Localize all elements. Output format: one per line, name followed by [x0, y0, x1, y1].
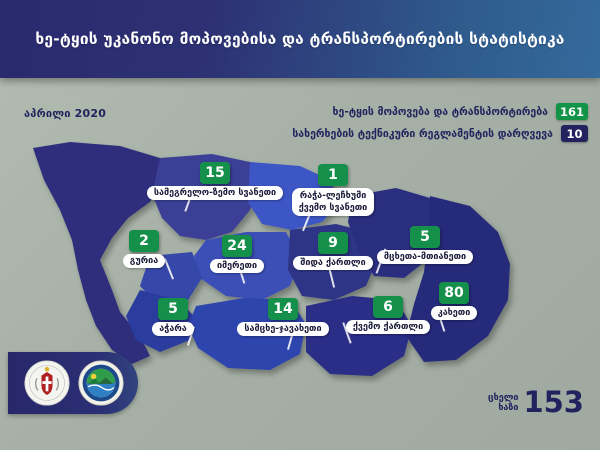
footer-logo-bar	[8, 352, 138, 414]
marker-value: 6	[373, 296, 403, 318]
marker-label: რაჭა-ლეჩხუმი ქვემო სვანეთი	[292, 188, 375, 216]
marker-label: იმერეთი	[210, 259, 264, 273]
legend-value-logging: 161	[556, 103, 588, 120]
marker-value: 14	[268, 298, 298, 320]
hotline: ცხელი ხაზი 153	[488, 388, 584, 417]
marker-value: 9	[318, 232, 348, 254]
marker-label: სამცხე-ჯავახეთი	[237, 322, 328, 336]
environment-agency-seal-icon	[78, 360, 124, 406]
legend-row-logging: ხე-ტყის მოპოვება და ტრანსპორტირება 161	[292, 103, 588, 120]
marker-label: მცხეთა-მთიანეთი	[377, 250, 473, 264]
marker-label: ქვემო ქართლი	[346, 320, 430, 334]
marker-label: გურია	[123, 254, 165, 268]
marker-value: 5	[410, 226, 440, 248]
marker-value: 2	[129, 230, 159, 252]
hotline-word-1: ცხელი	[488, 393, 518, 403]
map-marker-kakheti[interactable]: 80 კახეთი	[418, 282, 490, 320]
hotline-number: 153	[523, 388, 584, 417]
marker-label: სამეგრელო-ზემო სვანეთი	[147, 186, 283, 200]
marker-label: აჭარა	[152, 322, 193, 336]
map-marker-samegrelo-zemo-svaneti[interactable]: 15 სამეგრელო-ზემო სვანეთი	[130, 162, 300, 200]
header-banner: ხე-ტყის უკანონო მოპოვებისა და ტრანსპორტი…	[0, 0, 600, 78]
marker-label-line2: ქვემო სვანეთი	[299, 202, 368, 214]
legend-label-sawmill: სახერხების ტექნიკური რეგლამენტის დარღვევ…	[292, 128, 553, 140]
page-title: ხე-ტყის უკანონო მოპოვებისა და ტრანსპორტი…	[35, 30, 564, 48]
marker-value: 80	[439, 282, 469, 304]
marker-value: 5	[158, 298, 188, 320]
marker-value: 24	[222, 235, 252, 257]
marker-label-line1: რაჭა-ლეჩხუმი	[299, 190, 368, 202]
map-marker-samtskhe-javakheti[interactable]: 14 სამცხე-ჯავახეთი	[228, 298, 338, 336]
map-marker-guria[interactable]: 2 გურია	[108, 230, 180, 268]
georgia-coat-of-arms-icon	[24, 360, 70, 406]
marker-label: კახეთი	[431, 306, 478, 320]
legend-label-logging: ხე-ტყის მოპოვება და ტრანსპორტირება	[333, 106, 548, 118]
marker-value: 1	[318, 164, 348, 186]
hotline-label: ცხელი ხაზი	[488, 393, 518, 413]
map-marker-adjara[interactable]: 5 აჭარა	[138, 298, 208, 336]
infographic-poster: ხე-ტყის უკანონო მოპოვებისა და ტრანსპორტი…	[0, 0, 600, 450]
date-label: აპრილი 2020	[24, 107, 106, 120]
hotline-word-2: ხაზი	[488, 403, 518, 413]
map-marker-imereti[interactable]: 24 იმერეთი	[198, 235, 276, 273]
map-marker-mtskheta-mtianeti[interactable]: 5 მცხეთა-მთიანეთი	[360, 226, 490, 264]
marker-value: 15	[200, 162, 230, 184]
map-marker-racha-lechkhumi-kvemo-svaneti[interactable]: 1 რაჭა-ლეჩხუმი ქვემო სვანეთი	[278, 164, 388, 216]
